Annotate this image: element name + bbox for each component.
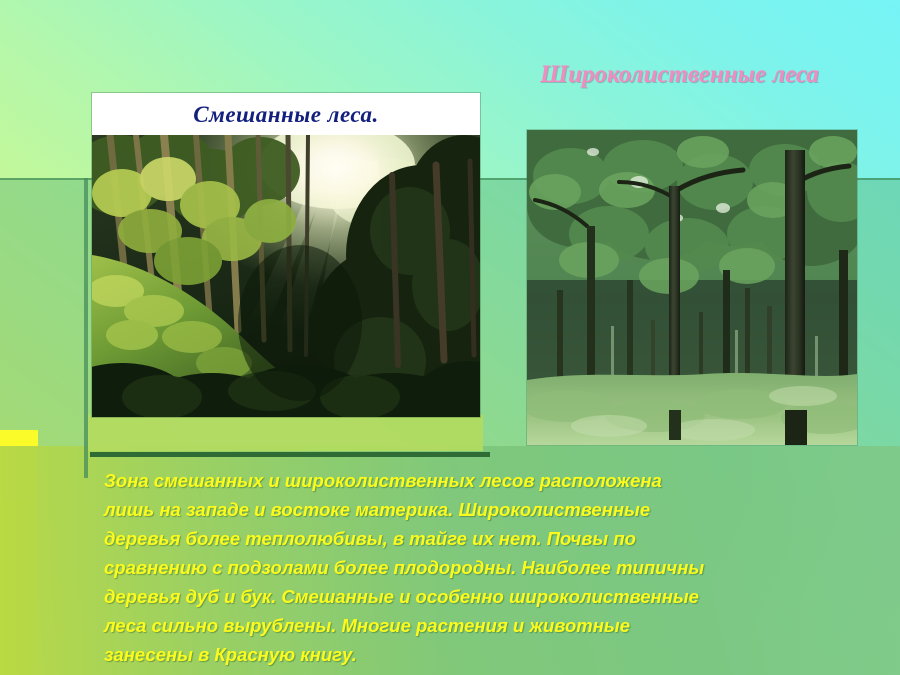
body-paragraph: Зона смешанных и широколиственных лесов … <box>104 466 824 669</box>
paragraph-line: деревья дуб и бук. Смешанные и особенно … <box>104 582 824 611</box>
mixed-forest-photo <box>92 135 480 417</box>
paragraph-line: леса сильно вырублены. Многие растения и… <box>104 611 824 640</box>
vertical-divider <box>84 178 88 478</box>
paragraph-line: Зона смешанных и широколиственных лесов … <box>104 466 824 495</box>
mixed-forest-artwork <box>92 135 480 417</box>
photo-card-mixed-forest: Смешанные леса. <box>92 93 480 417</box>
background-block-left-light <box>88 415 483 451</box>
heading-broadleaf-forests: Широколиственные леса <box>540 60 870 90</box>
photo-left-title: Смешанные леса. <box>92 93 480 135</box>
broadleaf-forest-artwork <box>527 130 857 445</box>
paragraph-line: деревья более теплолюбивы, в тайге их не… <box>104 524 824 553</box>
paragraph-line: лишь на западе и востоке материка. Широк… <box>104 495 824 524</box>
presentation-slide: Широколиственные леса Смешанные леса. <box>0 0 900 675</box>
horizontal-rule <box>90 452 490 457</box>
paragraph-line: сравнению с подзолами более плодородны. … <box>104 553 824 582</box>
broadleaf-forest-photo <box>527 130 857 445</box>
paragraph-line: занесены в Красную книгу. <box>104 640 824 669</box>
